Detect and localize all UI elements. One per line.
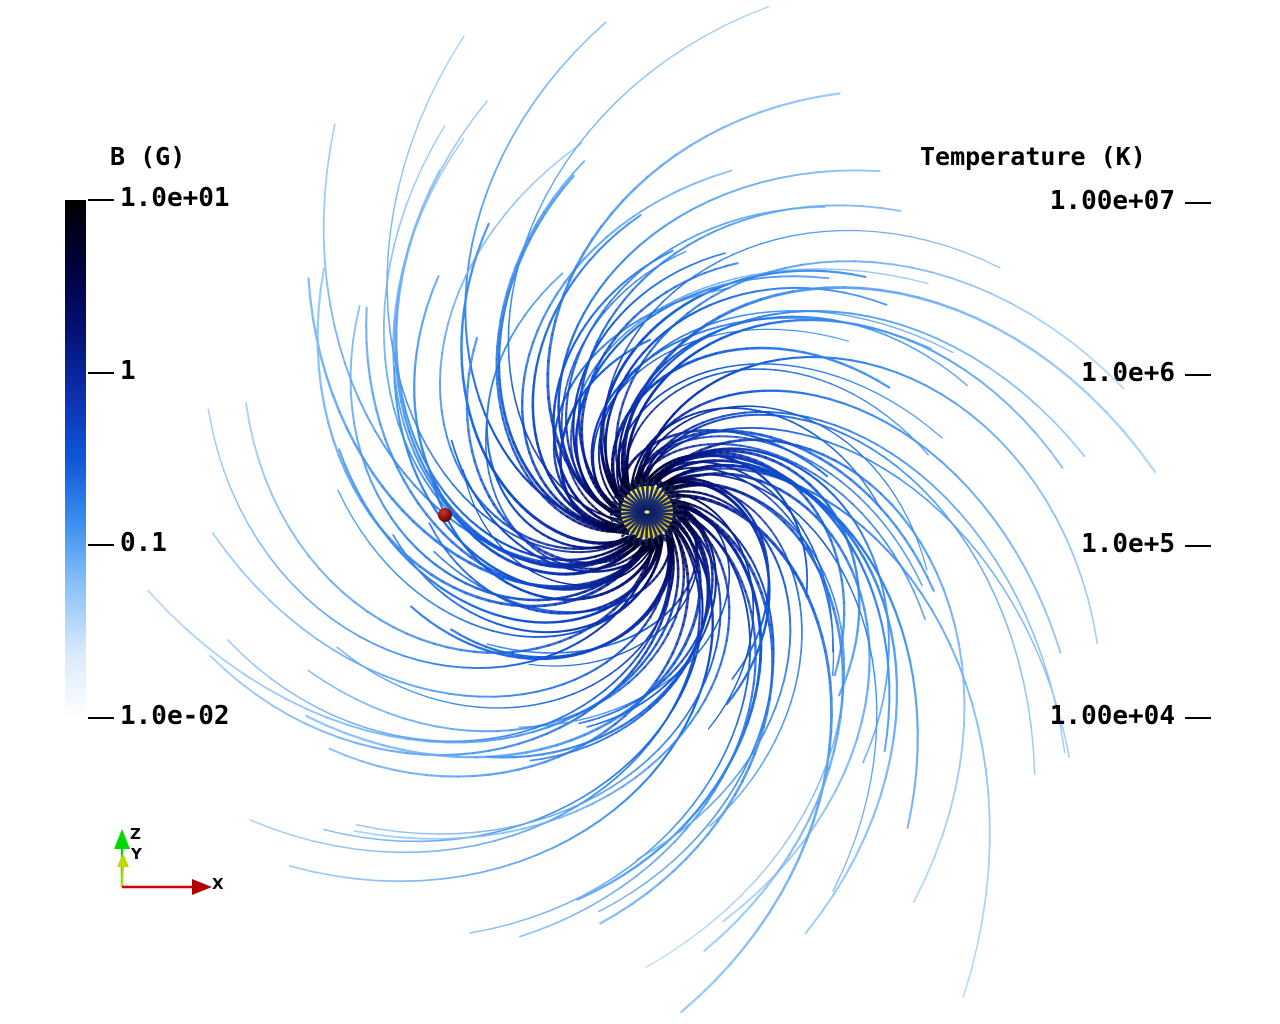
- streamline-segment: [462, 310, 464, 324]
- streamline-segment: [733, 413, 744, 414]
- streamline-segment: [457, 753, 473, 754]
- streamline-segment: [569, 584, 575, 585]
- streamline-segment: [463, 667, 477, 668]
- streamline-segment: [530, 657, 539, 658]
- streamline-segment: [767, 317, 779, 318]
- streamline-segment: [513, 651, 525, 653]
- streamline-segment: [395, 382, 396, 397]
- streamline-segment: [714, 475, 722, 476]
- streamline-segment: [440, 368, 441, 383]
- streamline-segment: [414, 367, 415, 382]
- streamline-segment: [559, 631, 567, 632]
- streamline-segment: [468, 374, 469, 386]
- streamline-segment: [462, 365, 463, 378]
- streamline-segment: [487, 434, 488, 444]
- streamline-segment: [728, 436, 737, 437]
- streamline-segment: [545, 604, 555, 605]
- streamline-segment: [550, 410, 552, 421]
- streamline-segment: [740, 392, 752, 394]
- streamline-segment: [736, 437, 745, 438]
- streamline-segment: [394, 367, 395, 382]
- streamline-segment: [676, 586, 677, 595]
- streamline-segment: [780, 349, 792, 350]
- streamline-segment: [842, 652, 843, 668]
- streamline-segment: [844, 614, 845, 626]
- streamline-segment: [841, 700, 843, 717]
- streamline-segment: [500, 652, 513, 653]
- streamline-segment: [537, 611, 544, 612]
- streamline-segment: [518, 657, 528, 658]
- streamline-segment: [500, 330, 501, 343]
- streamline-segment: [594, 443, 595, 449]
- streamline-segment: [769, 412, 782, 413]
- streamline-segment: [508, 343, 509, 358]
- streamline-segment: [617, 423, 618, 433]
- streamline-segment: [749, 620, 750, 632]
- streamline-segment: [351, 358, 352, 375]
- streamline-segment: [762, 428, 775, 429]
- streamline-segment: [686, 475, 692, 476]
- streamline-segment: [567, 394, 568, 404]
- streamline-segment: [774, 364, 786, 365]
- streamline-segment: [770, 625, 772, 637]
- streamline-segment: [414, 396, 415, 410]
- streamline-segment: [727, 587, 728, 597]
- streamline-segment: [760, 625, 761, 636]
- streamline-segment: [590, 551, 598, 552]
- streamline-segment: [831, 617, 832, 628]
- streamline-segment: [820, 311, 836, 312]
- streamline-segment: [711, 636, 712, 648]
- streamline-segment: [555, 602, 565, 604]
- streamline-segment: [545, 636, 555, 637]
- streamline-segment: [499, 367, 500, 379]
- streamline-segment: [567, 652, 577, 653]
- streamline-segment: [458, 776, 473, 777]
- streamline-segment: [567, 432, 568, 441]
- streamline-segment: [547, 658, 556, 659]
- streamline-segment: [743, 409, 751, 410]
- streamline-segment: [465, 311, 466, 327]
- streamline-segment: [740, 440, 751, 441]
- streamline-segment: [779, 329, 793, 330]
- streamline-segment: [501, 603, 512, 605]
- streamline-segment: [497, 372, 498, 384]
- streamline-segment: [521, 656, 530, 657]
- streamline-segment: [703, 437, 711, 438]
- streamline-segment: [536, 435, 538, 444]
- streamline-segment: [541, 565, 550, 567]
- streamline-segment: [696, 437, 703, 438]
- streamline-segment: [830, 682, 831, 698]
- streamline-segment: [745, 412, 757, 413]
- streamline-segment: [783, 320, 797, 321]
- streamline-segment: [479, 707, 492, 708]
- streamline-segment: [562, 406, 563, 414]
- streamline-segment: [824, 231, 841, 232]
- streamline-segment: [758, 615, 759, 626]
- streamline-segment: [548, 348, 549, 361]
- streamline-segment: [720, 614, 721, 625]
- streamline-segment: [889, 701, 890, 717]
- streamline-segment: [736, 349, 747, 350]
- streamline-segment: [777, 391, 790, 392]
- streamline-segment: [533, 632, 542, 633]
- streamline-segment: [829, 732, 831, 749]
- streamline-segment: [426, 775, 442, 776]
- streamline-segment: [587, 557, 595, 559]
- streamline-segment: [752, 391, 764, 392]
- streamline-segment: [512, 654, 521, 655]
- streamline-segment: [497, 384, 498, 396]
- streamline-segment: [706, 409, 713, 410]
- streamline-segment: [387, 293, 388, 313]
- streamline-segment: [567, 629, 575, 630]
- streamline-segment: [559, 417, 560, 427]
- streamline-segment: [497, 333, 498, 346]
- streamline-segment: [427, 741, 446, 742]
- streamline-segment: [726, 350, 736, 352]
- streamline-segment: [772, 665, 773, 678]
- streamline-segment: [989, 842, 990, 867]
- streamline-segment: [728, 561, 729, 568]
- streamline-segment: [384, 303, 385, 322]
- streamline-segment: [780, 288, 793, 289]
- streamline-segment: [693, 475, 700, 476]
- streamline-segment: [794, 318, 810, 319]
- streamline-segment: [395, 318, 396, 336]
- streamline-segment: [811, 271, 824, 272]
- streamline-segment: [739, 364, 750, 365]
- streamline-segment: [467, 386, 468, 398]
- streamline-segment: [487, 403, 488, 414]
- streamline-segment: [673, 569, 674, 576]
- streamline-segment: [793, 357, 807, 358]
- streamline-segment: [548, 386, 549, 398]
- streamline-segment: [695, 570, 696, 575]
- streamline-segment: [828, 667, 830, 683]
- streamline-segment: [486, 421, 487, 430]
- streamline-segment: [533, 386, 534, 396]
- streamline-segment: [497, 346, 498, 359]
- streamline-segment: [789, 609, 790, 620]
- streamline-segment: [728, 618, 729, 629]
- streamline-segment: [842, 684, 843, 700]
- streamline-segment: [754, 671, 755, 684]
- streamline-segment: [462, 324, 463, 338]
- streamline-segment: [620, 436, 621, 443]
- streamline-segment: [419, 841, 437, 842]
- streamline-segment: [718, 584, 719, 594]
- streamline-segment: [495, 696, 510, 697]
- streamline-segment: [827, 321, 842, 323]
- streamline-segment: [599, 461, 600, 468]
- streamline-segment: [504, 707, 516, 708]
- streamline-segment: [789, 311, 804, 312]
- streamline-segment: [768, 288, 780, 289]
- streamline-segment: [499, 343, 500, 355]
- streamline-segment: [551, 611, 560, 612]
- streamline-segment: [499, 379, 500, 391]
- streamline-segment: [825, 271, 838, 272]
- streamline-segment: [466, 327, 467, 343]
- streamline-segment: [743, 467, 753, 469]
- streamline-segment: [534, 606, 545, 607]
- streamline-segment: [533, 416, 534, 425]
- streamline-segment: [859, 170, 880, 171]
- streamline-segment: [729, 597, 730, 607]
- streamline-segment: [393, 325, 394, 343]
- streamline-segment: [549, 398, 550, 410]
- streamline-segment: [464, 696, 479, 697]
- streamline-segment: [713, 408, 720, 409]
- streamline-segment: [467, 420, 468, 431]
- streamline-segment: [384, 340, 385, 358]
- streamline-segment: [672, 575, 673, 582]
- streamline-segment: [440, 756, 458, 757]
- streamline-segment: [747, 348, 758, 349]
- streamline-segment: [548, 361, 549, 374]
- streamline-segment: [766, 277, 781, 278]
- streamline-segment: [593, 462, 594, 468]
- streamline-segment: [745, 415, 756, 416]
- streamline-segment: [734, 415, 745, 416]
- streamline-segment: [514, 635, 524, 636]
- streamline-segment: [579, 558, 588, 559]
- streamline-segment: [757, 672, 759, 684]
- visualization-window: Period: 0.0 B (G) 1.0e+0110.11.0e-02 Tem: [0, 0, 1280, 1024]
- streamline-segment: [805, 554, 806, 562]
- streamline-segment: [534, 652, 545, 653]
- streamline-segment: [789, 644, 790, 656]
- streamline-segment: [378, 881, 400, 882]
- streamline-segment: [508, 597, 518, 599]
- streamline-segment: [566, 404, 567, 414]
- streamline-segment: [771, 637, 772, 649]
- streamline-segment: [752, 433, 761, 435]
- streamline-segment: [718, 625, 719, 636]
- streamline-segment: [833, 663, 834, 675]
- streamline-segment: [468, 430, 470, 441]
- streamline-segment: [400, 881, 421, 882]
- streamline-segment: [730, 440, 741, 441]
- streamline-segment: [500, 391, 502, 402]
- streamline-segment: [443, 838, 464, 839]
- streamline-segment: [512, 605, 523, 606]
- streamline-segment: [575, 397, 577, 405]
- streamline-segment: [556, 657, 565, 658]
- streamline-segment: [732, 445, 741, 446]
- streamline-segment: [539, 665, 549, 666]
- streamline-segment: [727, 629, 729, 640]
- streamline-segment: [563, 398, 564, 406]
- streamline-segment: [748, 450, 757, 451]
- streamline-segment: [769, 348, 781, 349]
- streamline-segment: [574, 405, 575, 413]
- streamline-segment: [727, 428, 738, 429]
- streamline-segment: [488, 444, 489, 454]
- streamline-segment: [463, 378, 465, 391]
- streamline-segment: [772, 628, 773, 640]
- streamline-segment: [563, 583, 569, 584]
- streamline-segment: [351, 392, 352, 408]
- streamline-segment: [755, 406, 764, 407]
- streamline-segment: [720, 594, 721, 604]
- streamline-segment: [566, 423, 567, 432]
- streamline-segment: [806, 562, 807, 570]
- streamline-segment: [772, 311, 787, 312]
- streamline-segment: [801, 639, 802, 651]
- streamline-segment: [440, 397, 441, 411]
- streamline-segment: [568, 441, 570, 449]
- streamline-segment: [858, 619, 859, 631]
- streamline-segment: [573, 413, 574, 421]
- streamline-segment: [419, 833, 439, 834]
- streamline-segment: [523, 378, 524, 390]
- streamline-segment: [753, 623, 754, 634]
- streamline-segment: [581, 552, 589, 553]
- streamline-segment: [896, 666, 897, 684]
- streamline-segment: [461, 352, 462, 365]
- streamline-segment: [819, 261, 837, 262]
- streamline-segment: [896, 702, 897, 721]
- streamline-segment: [740, 463, 749, 465]
- streamline-segment: [855, 261, 874, 262]
- streamline-segment: [565, 655, 574, 657]
- streamline-segment: [801, 616, 802, 628]
- streamline-segment: [465, 741, 483, 742]
- streamline-segment: [560, 427, 562, 437]
- streamline-segment: [594, 468, 595, 474]
- streamline-segment: [708, 469, 714, 470]
- streamline-segment: [766, 616, 768, 625]
- streamline-segment: [763, 440, 775, 441]
- streamline-segment: [474, 652, 487, 653]
- streamline-segment: [556, 547, 565, 548]
- streamline-segment: [831, 715, 832, 732]
- streamline-segment: [522, 390, 523, 401]
- streamline-segment: [518, 599, 528, 600]
- streamline-segment: [889, 669, 890, 685]
- streamline-segment: [565, 548, 574, 549]
- streamline-segment: [757, 604, 759, 615]
- streamline-segment: [616, 433, 617, 442]
- streamline-segment: [752, 618, 753, 626]
- streamline-segment: [842, 581, 843, 592]
- streamline-segment: [825, 269, 845, 270]
- streamline-segment: [759, 660, 760, 672]
- streamline-segment: [843, 592, 844, 603]
- streamline-segment: [377, 851, 398, 852]
- streamline-segment: [701, 590, 702, 599]
- streamline-segment: [805, 317, 818, 318]
- streamline-segment: [491, 666, 505, 667]
- streamline-segment: [812, 320, 827, 321]
- streamline-segment: [715, 449, 723, 450]
- streamline-segment: [563, 551, 572, 552]
- streamline-segment: [542, 610, 551, 611]
- streamline-segment: [415, 410, 417, 424]
- streamline-segment: [677, 577, 678, 586]
- streamline-segment: [796, 276, 812, 277]
- streamline-segment: [604, 411, 605, 421]
- streamline-segment: [599, 439, 600, 446]
- streamline-segment: [508, 656, 518, 658]
- streamline-segment: [701, 444, 708, 445]
- streamline-segment: [534, 426, 535, 435]
- streamline-segment: [473, 775, 488, 776]
- streamline-segment: [525, 631, 534, 632]
- streamline-segment: [876, 692, 877, 709]
- streamline-segment: [739, 449, 748, 450]
- streamline-segment: [616, 451, 617, 459]
- streamline-segment: [868, 671, 869, 687]
- streamline-segment: [534, 376, 535, 386]
